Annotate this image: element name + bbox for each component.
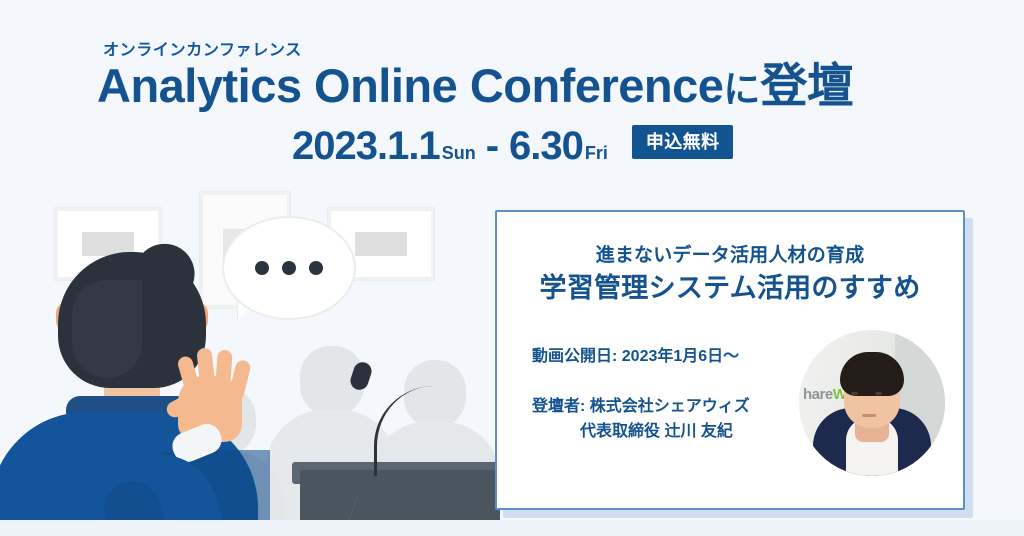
session-speaker-name: 代表取締役 辻川 友紀 — [532, 419, 812, 445]
page-title-en: Analytics Online Conference — [97, 59, 723, 112]
portrait-mouth — [862, 414, 876, 417]
session-speaker-company: 登壇者: 株式会社シェアウィズ — [532, 394, 812, 420]
portrait-eye — [851, 392, 858, 395]
speaker-portrait: hareWi — [799, 330, 945, 476]
conference-illustration — [0, 150, 500, 536]
date-end: 6.30 — [509, 126, 583, 166]
event-date-row: 2023.1.1 Sun - 6.30 Fri 申込無料 — [292, 126, 733, 166]
portrait-hair — [840, 352, 904, 396]
session-subtitle: 進まないデータ活用人材の育成 — [497, 240, 963, 267]
page-title: Analytics Online Conferenceに登壇 — [97, 62, 853, 109]
session-release-date: 動画公開日: 2023年1月6日〜 — [532, 344, 812, 370]
speech-bubble-icon — [222, 216, 356, 320]
microphone-stem — [374, 386, 437, 476]
date-end-weekday: Fri — [585, 143, 608, 164]
ellipsis-dots-icon — [255, 261, 323, 275]
portrait-eye — [875, 392, 882, 395]
page-title-jp: 登壇 — [760, 59, 853, 112]
free-entry-badge[interactable]: 申込無料 — [632, 125, 733, 159]
session-meta: 動画公開日: 2023年1月6日〜 登壇者: 株式会社シェアウィズ 代表取締役 … — [532, 344, 812, 445]
session-title: 学習管理システム活用のすすめ — [497, 266, 963, 305]
date-start-weekday: Sun — [442, 143, 476, 164]
session-card: 進まないデータ活用人材の育成 学習管理システム活用のすすめ 動画公開日: 202… — [495, 210, 965, 510]
page-title-particle: に — [723, 69, 760, 110]
kicker-text: オンラインカンファレンス — [103, 36, 302, 60]
banner-stage: オンラインカンファレンス Analytics Online Conference… — [0, 0, 1024, 536]
floor-strip — [0, 520, 1024, 536]
date-separator: - — [486, 126, 499, 166]
date-start: 2023.1.1 — [292, 126, 440, 166]
